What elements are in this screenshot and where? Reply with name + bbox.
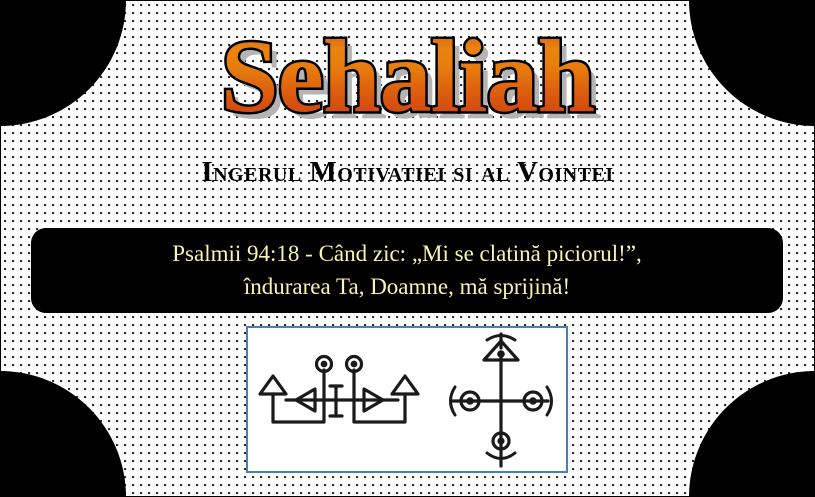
corner-cut-bottom-left <box>0 371 126 497</box>
title-block: Sehaliah Sehaliah Sehaliah <box>0 22 815 131</box>
sigil-image-frame <box>246 326 568 473</box>
sehaliah-sigil-right <box>451 334 552 466</box>
sehaliah-sigil-left <box>260 357 418 423</box>
slide-canvas: Sehaliah Sehaliah Sehaliah Ingerul Motiv… <box>0 0 815 497</box>
corner-cut-bottom-right <box>689 371 815 497</box>
sigil-drawing <box>248 328 566 471</box>
title-fill-layer: Sehaliah <box>221 19 594 134</box>
page-subtitle: Ingerul Motivatiei si al Vointei <box>0 156 815 189</box>
page-title: Sehaliah Sehaliah Sehaliah <box>221 22 594 131</box>
scripture-quote-text: Psalmii 94:18 - Când zic: „Mi se clatină… <box>158 238 655 303</box>
scripture-quote-box: Psalmii 94:18 - Când zic: „Mi se clatină… <box>31 228 783 313</box>
